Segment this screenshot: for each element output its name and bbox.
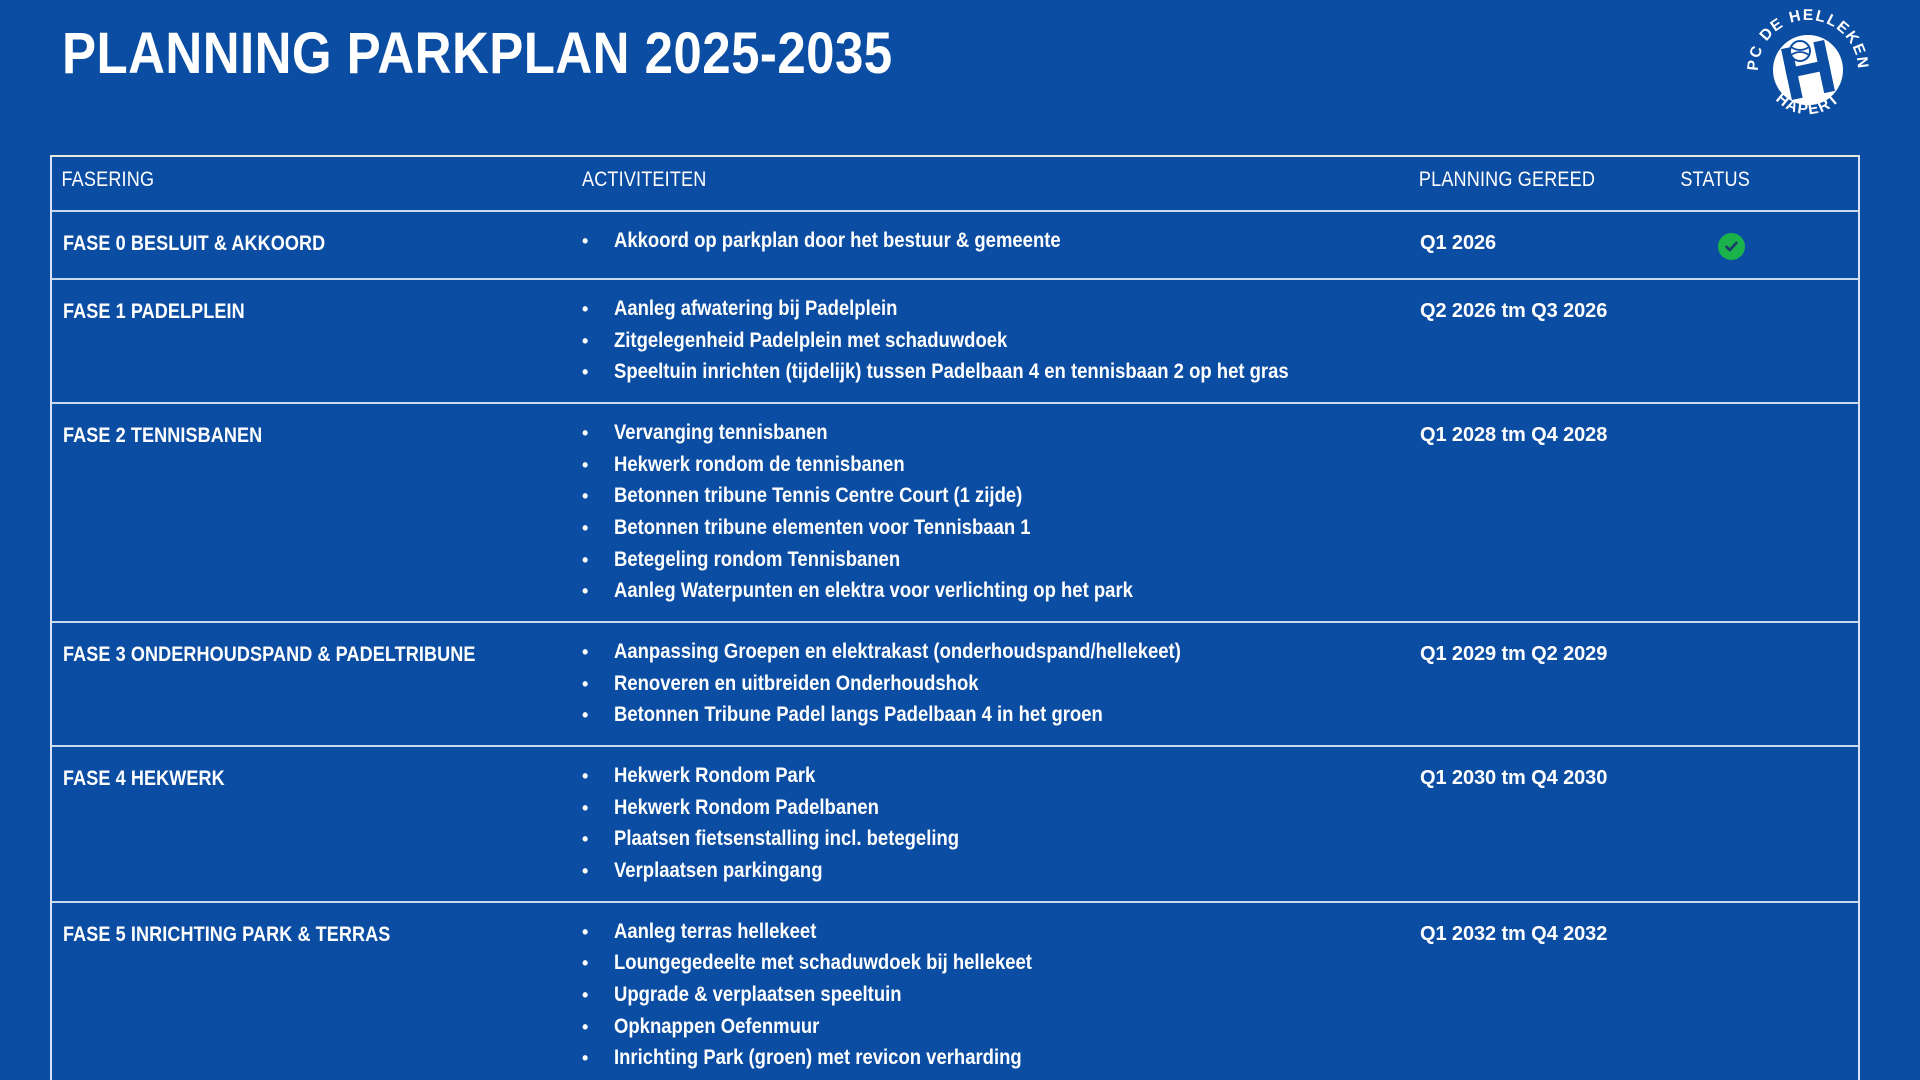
cell-planning: Q2 2026 tm Q3 2026	[1412, 298, 1670, 384]
bullet-icon: •	[582, 485, 614, 508]
activity-list: • Hekwerk Rondom Park • Hekwerk Rondom P…	[582, 765, 1412, 883]
column-header-fasering: FASERING	[52, 157, 508, 192]
list-item: • Inrichting Park (groen) met revicon ve…	[582, 1047, 1412, 1070]
bullet-icon: •	[582, 828, 614, 851]
page-title: PLANNING PARKPLAN 2025-2035	[62, 24, 893, 85]
table-header-row: FASERING ACTIVITEITEN PLANNING GEREED ST…	[52, 157, 1858, 212]
fase-label: FASE 2 TENNISBANEN	[63, 422, 509, 448]
activity-text: Aanpassing Groepen en elektrakast (onder…	[614, 641, 1181, 664]
list-item: • Aanleg terras hellekeet	[582, 921, 1412, 944]
column-header-planning-label: PLANNING GEREED	[1419, 168, 1595, 191]
bullet-icon: •	[582, 984, 614, 1007]
fase-label: FASE 4 HEKWERK	[63, 765, 509, 791]
tennis-ball-icon	[1790, 41, 1810, 61]
bullet-icon: •	[582, 298, 614, 321]
bullet-icon: •	[582, 549, 614, 572]
list-item: • Verplaatsen parkingang	[582, 860, 1412, 883]
planning-value: Q1 2026	[1420, 230, 1670, 255]
list-item: • Betonnen tribune elementen voor Tennis…	[582, 517, 1412, 540]
column-header-planning: PLANNING GEREED	[1412, 157, 1634, 192]
bullet-icon: •	[582, 454, 614, 477]
list-item: • Hekwerk rondom de tennisbanen	[582, 454, 1412, 477]
planning-value: Q1 2030 tm Q4 2030	[1420, 765, 1670, 790]
bullet-icon: •	[582, 422, 614, 445]
cell-planning: Q1 2029 tm Q2 2029	[1412, 641, 1670, 727]
activity-text: Betonnen tribune Tennis Centre Court (1 …	[614, 485, 1022, 508]
list-item: • Aanpassing Groepen en elektrakast (ond…	[582, 641, 1412, 664]
cell-fasering: FASE 0 BESLUIT & AKKOORD	[52, 230, 582, 260]
cell-status	[1670, 921, 1858, 1070]
bullet-icon: •	[582, 1016, 614, 1039]
cell-status	[1670, 230, 1858, 260]
planning-value: Q2 2026 tm Q3 2026	[1420, 298, 1670, 323]
activity-text: Vervanging tennisbanen	[614, 422, 828, 445]
cell-fasering: FASE 4 HEKWERK	[52, 765, 582, 883]
activity-text: Loungegedeelte met schaduwdoek bij helle…	[614, 952, 1032, 975]
activity-text: Akkoord op parkplan door het bestuur & g…	[614, 230, 1061, 253]
activity-text: Aanleg afwatering bij Padelplein	[614, 298, 897, 321]
list-item: • Aanleg Waterpunten en elektra voor ver…	[582, 580, 1412, 603]
bullet-icon: •	[582, 673, 614, 696]
column-header-status: STATUS	[1670, 157, 1832, 192]
list-item: • Upgrade & verplaatsen speeltuin	[582, 984, 1412, 1007]
cell-planning: Q1 2030 tm Q4 2030	[1412, 765, 1670, 883]
bullet-icon: •	[582, 704, 614, 727]
planning-value: Q1 2032 tm Q4 2032	[1420, 921, 1670, 946]
table-row: FASE 4 HEKWERK • Hekwerk Rondom Park • H…	[52, 747, 1858, 903]
list-item: • Opknappen Oefenmuur	[582, 1016, 1412, 1039]
activity-list: • Akkoord op parkplan door het bestuur &…	[582, 230, 1412, 253]
bullet-icon: •	[582, 230, 614, 253]
bullet-icon: •	[582, 330, 614, 353]
cell-fasering: FASE 5 INRICHTING PARK & TERRAS	[52, 921, 582, 1070]
fase-label: FASE 3 ONDERHOUDSPAND & PADELTRIBUNE	[63, 641, 509, 667]
cell-status	[1670, 422, 1858, 603]
table-row: FASE 2 TENNISBANEN • Vervanging tennisba…	[52, 404, 1858, 623]
activity-text: Hekwerk Rondom Park	[614, 765, 815, 788]
list-item: • Betegeling rondom Tennisbanen	[582, 549, 1412, 572]
bullet-icon: •	[582, 765, 614, 788]
cell-status	[1670, 765, 1858, 883]
list-item: • Loungegedeelte met schaduwdoek bij hel…	[582, 952, 1412, 975]
bullet-icon: •	[582, 860, 614, 883]
cell-fasering: FASE 2 TENNISBANEN	[52, 422, 582, 603]
check-icon	[1723, 238, 1740, 255]
activity-text: Aanleg Waterpunten en elektra voor verli…	[614, 580, 1133, 603]
fase-label: FASE 0 BESLUIT & AKKOORD	[63, 230, 509, 256]
bullet-icon: •	[582, 580, 614, 603]
status-badge-done	[1718, 233, 1745, 260]
list-item: • Betonnen tribune Tennis Centre Court (…	[582, 485, 1412, 508]
cell-status	[1670, 298, 1858, 384]
activity-text: Renoveren en uitbreiden Onderhoudshok	[614, 673, 979, 696]
activity-text: Hekwerk rondom de tennisbanen	[614, 454, 905, 477]
table-row: FASE 0 BESLUIT & AKKOORD • Akkoord op pa…	[52, 212, 1858, 280]
cell-fasering: FASE 3 ONDERHOUDSPAND & PADELTRIBUNE	[52, 641, 582, 727]
activity-text: Verplaatsen parkingang	[614, 860, 822, 883]
cell-planning: Q1 2032 tm Q4 2032	[1412, 921, 1670, 1070]
column-header-status-label: STATUS	[1680, 168, 1750, 191]
cell-activiteiten: • Aanpassing Groepen en elektrakast (ond…	[582, 641, 1412, 727]
list-item: • Hekwerk Rondom Park	[582, 765, 1412, 788]
activity-list: • Aanleg terras hellekeet • Loungegedeel…	[582, 921, 1412, 1070]
cell-planning: Q1 2026	[1412, 230, 1670, 260]
activity-text: Upgrade & verplaatsen speeltuin	[614, 984, 902, 1007]
table-row: FASE 3 ONDERHOUDSPAND & PADELTRIBUNE • A…	[52, 623, 1858, 747]
list-item: • Renoveren en uitbreiden Onderhoudshok	[582, 673, 1412, 696]
activity-text: Betonnen tribune elementen voor Tennisba…	[614, 517, 1031, 540]
activity-text: Opknappen Oefenmuur	[614, 1016, 819, 1039]
bullet-icon: •	[582, 952, 614, 975]
planning-value: Q1 2029 tm Q2 2029	[1420, 641, 1670, 666]
activity-list: • Vervanging tennisbanen • Hekwerk rondo…	[582, 422, 1412, 603]
cell-activiteiten: • Akkoord op parkplan door het bestuur &…	[582, 230, 1412, 260]
table-row: FASE 5 INRICHTING PARK & TERRAS • Aanleg…	[52, 903, 1858, 1080]
bullet-icon: •	[582, 361, 614, 384]
list-item: • Hekwerk Rondom Padelbanen	[582, 797, 1412, 820]
cell-activiteiten: • Aanleg terras hellekeet • Loungegedeel…	[582, 921, 1412, 1070]
list-item: • Speeltuin inrichten (tijdelijk) tussen…	[582, 361, 1412, 384]
fase-label: FASE 1 PADELPLEIN	[63, 298, 509, 324]
column-header-activiteiten: ACTIVITEITEN	[582, 157, 1296, 192]
table-row: FASE 1 PADELPLEIN • Aanleg afwatering bi…	[52, 280, 1858, 404]
activity-text: Aanleg terras hellekeet	[614, 921, 816, 944]
column-header-activiteiten-label: ACTIVITEITEN	[582, 168, 706, 191]
activity-text: Betegeling rondom Tennisbanen	[614, 549, 900, 572]
cell-activiteiten: • Aanleg afwatering bij Padelplein • Zit…	[582, 298, 1412, 384]
list-item: • Vervanging tennisbanen	[582, 422, 1412, 445]
planning-table: FASERING ACTIVITEITEN PLANNING GEREED ST…	[50, 155, 1860, 1080]
activity-text: Zitgelegenheid Padelplein met schaduwdoe…	[614, 330, 1007, 353]
fase-label: FASE 5 INRICHTING PARK & TERRAS	[63, 921, 509, 947]
planning-value: Q1 2028 tm Q4 2028	[1420, 422, 1670, 447]
list-item: • Akkoord op parkplan door het bestuur &…	[582, 230, 1412, 253]
club-logo: TPC DE HELLEKENS HAPERT	[1744, 6, 1872, 134]
bullet-icon: •	[582, 517, 614, 540]
list-item: • Zitgelegenheid Padelplein met schaduwd…	[582, 330, 1412, 353]
bullet-icon: •	[582, 641, 614, 664]
bullet-icon: •	[582, 797, 614, 820]
activity-list: • Aanleg afwatering bij Padelplein • Zit…	[582, 298, 1412, 384]
column-header-fasering-label: FASERING	[61, 168, 154, 191]
bullet-icon: •	[582, 921, 614, 944]
list-item: • Plaatsen fietsenstalling incl. betegel…	[582, 828, 1412, 851]
list-item: • Betonnen Tribune Padel langs Padelbaan…	[582, 704, 1412, 727]
activity-text: Hekwerk Rondom Padelbanen	[614, 797, 879, 820]
bullet-icon: •	[582, 1047, 614, 1070]
cell-activiteiten: • Vervanging tennisbanen • Hekwerk rondo…	[582, 422, 1412, 603]
activity-text: Speeltuin inrichten (tijdelijk) tussen P…	[614, 361, 1289, 384]
cell-planning: Q1 2028 tm Q4 2028	[1412, 422, 1670, 603]
cell-fasering: FASE 1 PADELPLEIN	[52, 298, 582, 384]
list-item: • Aanleg afwatering bij Padelplein	[582, 298, 1412, 321]
activity-text: Betonnen Tribune Padel langs Padelbaan 4…	[614, 704, 1103, 727]
activity-text: Plaatsen fietsenstalling incl. betegelin…	[614, 828, 959, 851]
activity-list: • Aanpassing Groepen en elektrakast (ond…	[582, 641, 1412, 727]
cell-status	[1670, 641, 1858, 727]
activity-text: Inrichting Park (groen) met revicon verh…	[614, 1047, 1022, 1070]
cell-activiteiten: • Hekwerk Rondom Park • Hekwerk Rondom P…	[582, 765, 1412, 883]
